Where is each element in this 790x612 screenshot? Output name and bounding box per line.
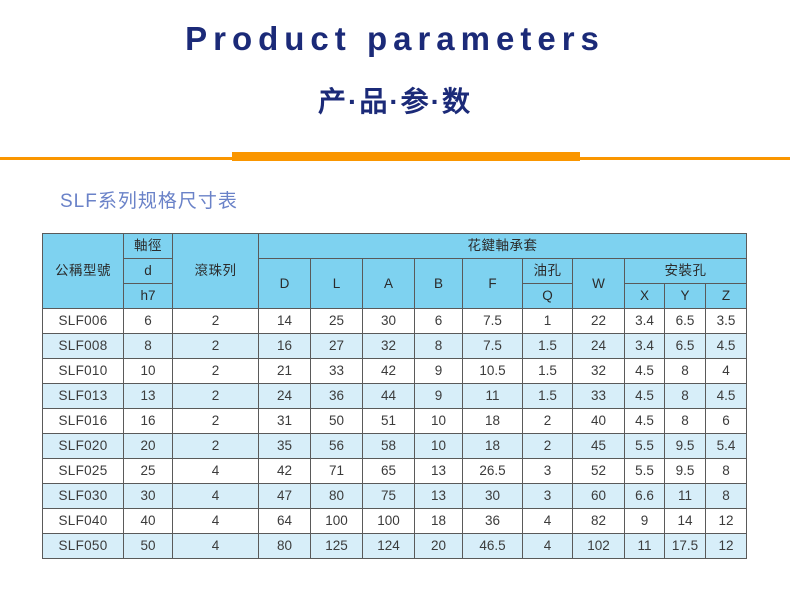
header-cell-W: W — [573, 259, 625, 309]
cell-model: SLF013 — [43, 384, 124, 409]
cell-L: 71 — [311, 459, 363, 484]
page-header: Product parameters 产·品·参·数 — [0, 0, 790, 168]
cell-model: SLF008 — [43, 334, 124, 359]
cell-W: 60 — [573, 484, 625, 509]
cell-D: 31 — [259, 409, 311, 434]
cell-X: 5.5 — [625, 434, 665, 459]
cell-D: 47 — [259, 484, 311, 509]
header-cell-h7: h7 — [124, 284, 173, 309]
table-row: SLF03030447807513303606.6118 — [43, 484, 747, 509]
cell-balls: 4 — [173, 484, 259, 509]
cell-F: 36 — [463, 509, 523, 534]
cell-d: 40 — [124, 509, 173, 534]
header-cell-Z: Z — [706, 284, 747, 309]
cell-F: 11 — [463, 384, 523, 409]
cell-d: 6 — [124, 309, 173, 334]
cell-balls: 2 — [173, 309, 259, 334]
cell-D: 16 — [259, 334, 311, 359]
cell-d: 20 — [124, 434, 173, 459]
table-row: SLF0066214253067.51223.46.53.5 — [43, 309, 747, 334]
cell-model: SLF020 — [43, 434, 124, 459]
cell-balls: 4 — [173, 534, 259, 559]
cell-W: 52 — [573, 459, 625, 484]
cell-L: 50 — [311, 409, 363, 434]
header-cell-A: A — [363, 259, 415, 309]
cell-L: 125 — [311, 534, 363, 559]
cell-B: 13 — [415, 459, 463, 484]
cell-d: 13 — [124, 384, 173, 409]
cell-d: 10 — [124, 359, 173, 384]
cell-A: 65 — [363, 459, 415, 484]
cell-Z: 12 — [706, 509, 747, 534]
cell-X: 6.6 — [625, 484, 665, 509]
cell-A: 42 — [363, 359, 415, 384]
cell-B: 10 — [415, 434, 463, 459]
header-cell-L: L — [311, 259, 363, 309]
table-row: SLF02020235565810182455.59.55.4 — [43, 434, 747, 459]
spec-table-body: SLF0066214253067.51223.46.53.5SLF0088216… — [43, 309, 747, 559]
header-cell-shaft-diameter: 軸徑 — [124, 234, 173, 259]
cell-D: 80 — [259, 534, 311, 559]
cell-B: 6 — [415, 309, 463, 334]
cell-Q: 2 — [523, 409, 573, 434]
spec-table: 公稱型號 軸徑 滾珠列 花鍵軸承套 d D L A B F 油孔 W 安裝孔 h… — [42, 233, 747, 559]
cell-L: 25 — [311, 309, 363, 334]
cell-F: 18 — [463, 434, 523, 459]
cell-L: 80 — [311, 484, 363, 509]
table-row: SLF0131322436449111.5334.584.5 — [43, 384, 747, 409]
cell-A: 30 — [363, 309, 415, 334]
cell-model: SLF016 — [43, 409, 124, 434]
table-row: SLF010102213342910.51.5324.584 — [43, 359, 747, 384]
cell-d: 16 — [124, 409, 173, 434]
table-row: SLF050504801251242046.541021117.512 — [43, 534, 747, 559]
cell-D: 24 — [259, 384, 311, 409]
cell-model: SLF025 — [43, 459, 124, 484]
cell-W: 82 — [573, 509, 625, 534]
header-cell-D: D — [259, 259, 311, 309]
cell-Z: 8 — [706, 484, 747, 509]
cell-Y: 9.5 — [665, 459, 706, 484]
header-row-2: d D L A B F 油孔 W 安裝孔 — [43, 259, 747, 284]
cell-L: 33 — [311, 359, 363, 384]
cell-F: 10.5 — [463, 359, 523, 384]
divider-line-thick — [232, 152, 580, 161]
cell-A: 100 — [363, 509, 415, 534]
cell-Z: 3.5 — [706, 309, 747, 334]
cell-d: 50 — [124, 534, 173, 559]
cell-F: 18 — [463, 409, 523, 434]
cell-A: 75 — [363, 484, 415, 509]
cell-L: 36 — [311, 384, 363, 409]
cell-Z: 4.5 — [706, 334, 747, 359]
cell-model: SLF010 — [43, 359, 124, 384]
header-cell-Q: Q — [523, 284, 573, 309]
cell-balls: 2 — [173, 334, 259, 359]
header-cell-B: B — [415, 259, 463, 309]
cell-X: 4.5 — [625, 409, 665, 434]
cell-Z: 4 — [706, 359, 747, 384]
cell-Y: 8 — [665, 359, 706, 384]
cell-Z: 12 — [706, 534, 747, 559]
cell-Q: 1.5 — [523, 384, 573, 409]
cell-Q: 2 — [523, 434, 573, 459]
table-row: SLF0252544271651326.53525.59.58 — [43, 459, 747, 484]
header-cell-mount-hole: 安裝孔 — [625, 259, 747, 284]
cell-F: 30 — [463, 484, 523, 509]
cell-D: 35 — [259, 434, 311, 459]
cell-d: 8 — [124, 334, 173, 359]
spec-table-header: 公稱型號 軸徑 滾珠列 花鍵軸承套 d D L A B F 油孔 W 安裝孔 h… — [43, 234, 747, 309]
cell-d: 30 — [124, 484, 173, 509]
table-row: SLF04040464100100183648291412 — [43, 509, 747, 534]
cell-model: SLF006 — [43, 309, 124, 334]
cell-Y: 17.5 — [665, 534, 706, 559]
cell-Q: 1 — [523, 309, 573, 334]
header-row-1: 公稱型號 軸徑 滾珠列 花鍵軸承套 — [43, 234, 747, 259]
cell-Q: 1.5 — [523, 334, 573, 359]
cell-X: 3.4 — [625, 309, 665, 334]
cell-L: 56 — [311, 434, 363, 459]
cell-Y: 11 — [665, 484, 706, 509]
cell-X: 4.5 — [625, 384, 665, 409]
cell-W: 32 — [573, 359, 625, 384]
cell-D: 21 — [259, 359, 311, 384]
header-cell-ball-rows: 滾珠列 — [173, 234, 259, 309]
cell-model: SLF040 — [43, 509, 124, 534]
cell-balls: 4 — [173, 459, 259, 484]
cell-Y: 8 — [665, 409, 706, 434]
cell-Q: 4 — [523, 534, 573, 559]
cell-A: 51 — [363, 409, 415, 434]
cell-X: 5.5 — [625, 459, 665, 484]
cell-balls: 2 — [173, 434, 259, 459]
header-cell-Y: Y — [665, 284, 706, 309]
cell-Z: 5.4 — [706, 434, 747, 459]
page-title: Product parameters — [0, 22, 790, 55]
cell-X: 9 — [625, 509, 665, 534]
header-cell-model: 公稱型號 — [43, 234, 124, 309]
spec-table-heading: SLF系列规格尺寸表 — [60, 186, 238, 213]
header-cell-F: F — [463, 259, 523, 309]
table-row: SLF01616231505110182404.586 — [43, 409, 747, 434]
cell-balls: 2 — [173, 384, 259, 409]
cell-Q: 1.5 — [523, 359, 573, 384]
cell-d: 25 — [124, 459, 173, 484]
cell-Y: 9.5 — [665, 434, 706, 459]
cell-balls: 2 — [173, 359, 259, 384]
cell-D: 64 — [259, 509, 311, 534]
cell-A: 44 — [363, 384, 415, 409]
cell-A: 58 — [363, 434, 415, 459]
cell-Z: 6 — [706, 409, 747, 434]
header-cell-oil-hole: 油孔 — [523, 259, 573, 284]
cell-F: 7.5 — [463, 334, 523, 359]
cell-D: 14 — [259, 309, 311, 334]
cell-W: 22 — [573, 309, 625, 334]
cell-W: 102 — [573, 534, 625, 559]
table-row: SLF0088216273287.51.5243.46.54.5 — [43, 334, 747, 359]
cell-L: 27 — [311, 334, 363, 359]
cell-Y: 8 — [665, 384, 706, 409]
cell-X: 4.5 — [625, 359, 665, 384]
header-cell-spline-sleeve: 花鍵軸承套 — [259, 234, 747, 259]
cell-Y: 6.5 — [665, 309, 706, 334]
cell-A: 32 — [363, 334, 415, 359]
cell-X: 11 — [625, 534, 665, 559]
cell-A: 124 — [363, 534, 415, 559]
cell-F: 26.5 — [463, 459, 523, 484]
cell-Y: 6.5 — [665, 334, 706, 359]
cell-Q: 4 — [523, 509, 573, 534]
cell-D: 42 — [259, 459, 311, 484]
cell-B: 18 — [415, 509, 463, 534]
cell-Z: 8 — [706, 459, 747, 484]
cell-Y: 14 — [665, 509, 706, 534]
cell-model: SLF050 — [43, 534, 124, 559]
cell-B: 10 — [415, 409, 463, 434]
cell-X: 3.4 — [625, 334, 665, 359]
spec-table-container: 公稱型號 軸徑 滾珠列 花鍵軸承套 d D L A B F 油孔 W 安裝孔 h… — [42, 233, 746, 559]
cell-F: 46.5 — [463, 534, 523, 559]
cell-balls: 2 — [173, 409, 259, 434]
cell-B: 9 — [415, 384, 463, 409]
cell-Q: 3 — [523, 459, 573, 484]
cell-W: 40 — [573, 409, 625, 434]
header-cell-d-symbol: d — [124, 259, 173, 284]
cell-B: 9 — [415, 359, 463, 384]
cell-B: 8 — [415, 334, 463, 359]
cell-W: 45 — [573, 434, 625, 459]
cell-F: 7.5 — [463, 309, 523, 334]
cell-Z: 4.5 — [706, 384, 747, 409]
header-cell-X: X — [625, 284, 665, 309]
page-subtitle: 产·品·参·数 — [0, 88, 790, 116]
cell-B: 20 — [415, 534, 463, 559]
cell-model: SLF030 — [43, 484, 124, 509]
cell-balls: 4 — [173, 509, 259, 534]
cell-W: 24 — [573, 334, 625, 359]
cell-B: 13 — [415, 484, 463, 509]
cell-Q: 3 — [523, 484, 573, 509]
cell-W: 33 — [573, 384, 625, 409]
cell-L: 100 — [311, 509, 363, 534]
